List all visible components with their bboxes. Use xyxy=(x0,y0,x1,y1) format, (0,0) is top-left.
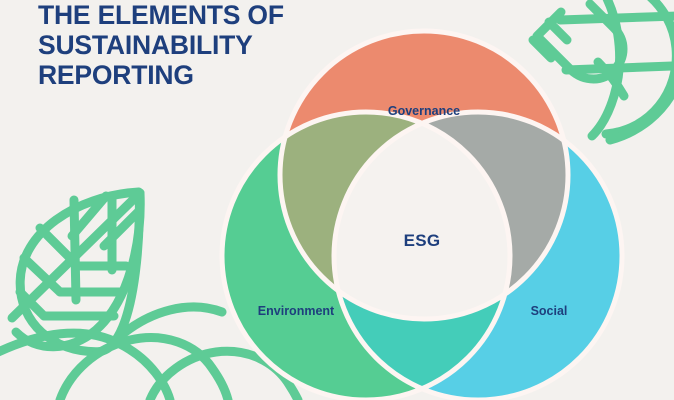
venn-label-social: Social xyxy=(531,304,568,318)
title-line-1: THE ELEMENTS OF xyxy=(38,0,338,30)
infographic-canvas: THE ELEMENTS OF SUSTAINABILITY REPORTING xyxy=(0,0,674,400)
venn-label-environment: Environment xyxy=(258,304,335,318)
title-line-3: REPORTING xyxy=(38,60,338,90)
page-title: THE ELEMENTS OF SUSTAINABILITY REPORTING xyxy=(38,0,338,90)
venn-label-governance: Governance xyxy=(388,104,460,118)
venn-label-esg: ESG xyxy=(404,231,441,250)
title-line-2: SUSTAINABILITY xyxy=(38,30,338,60)
